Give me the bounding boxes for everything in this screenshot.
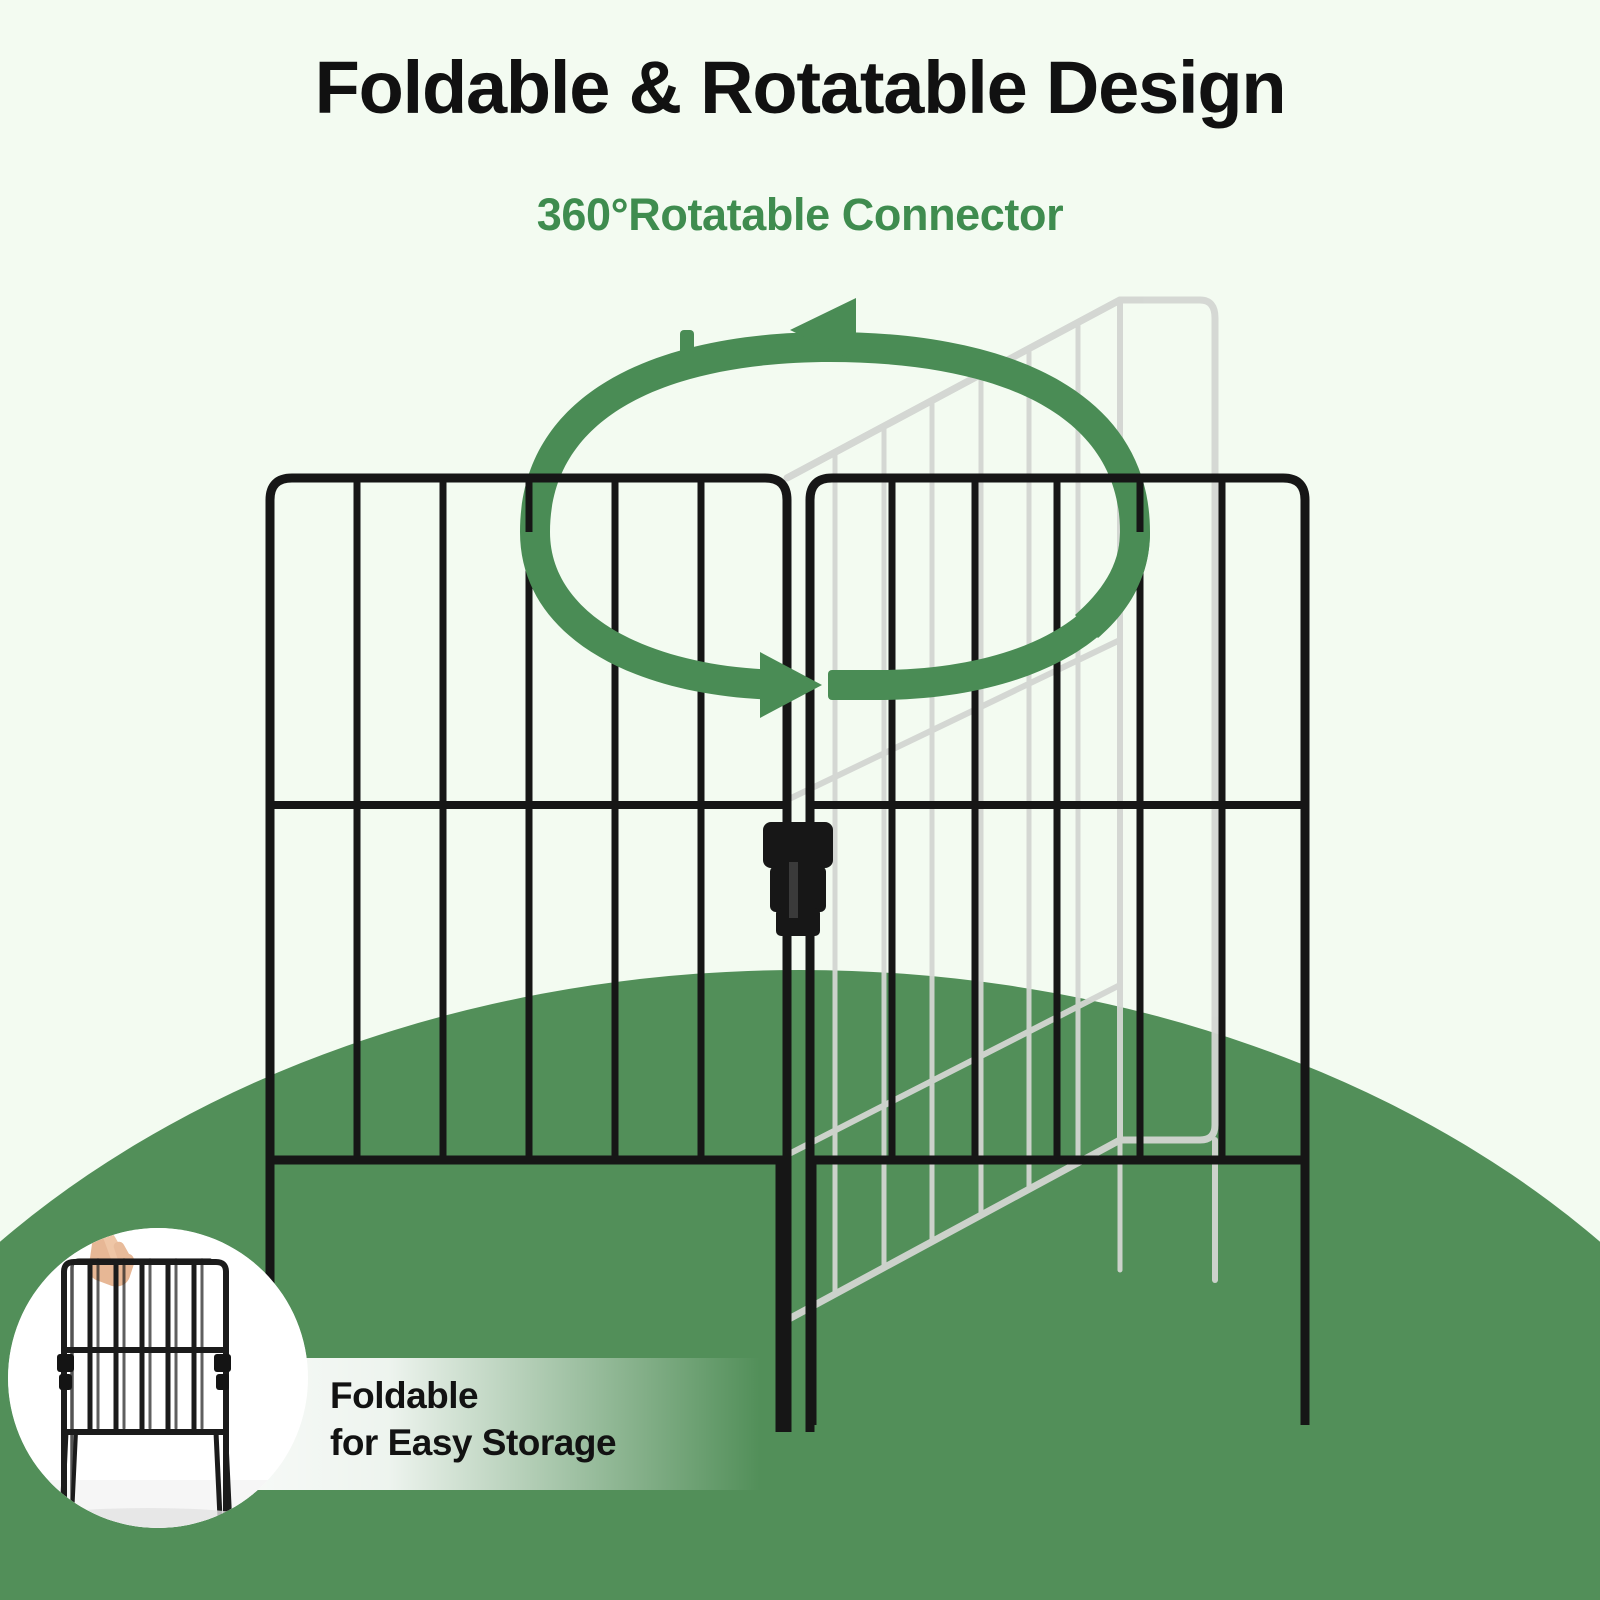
page-subtitle: 360°Rotatable Connector (0, 190, 1600, 240)
page-title: Foldable & Rotatable Design (0, 48, 1600, 128)
rotatable-connector (763, 822, 833, 936)
infographic-canvas: Foldable & Rotatable Design 360°Rotatabl… (0, 0, 1600, 1600)
callout-text: Foldable for Easy Storage (330, 1372, 760, 1467)
callout-line-1: Foldable (330, 1372, 760, 1419)
foldable-storage-photo (8, 1228, 308, 1528)
callout-line-2: for Easy Storage (330, 1419, 760, 1466)
